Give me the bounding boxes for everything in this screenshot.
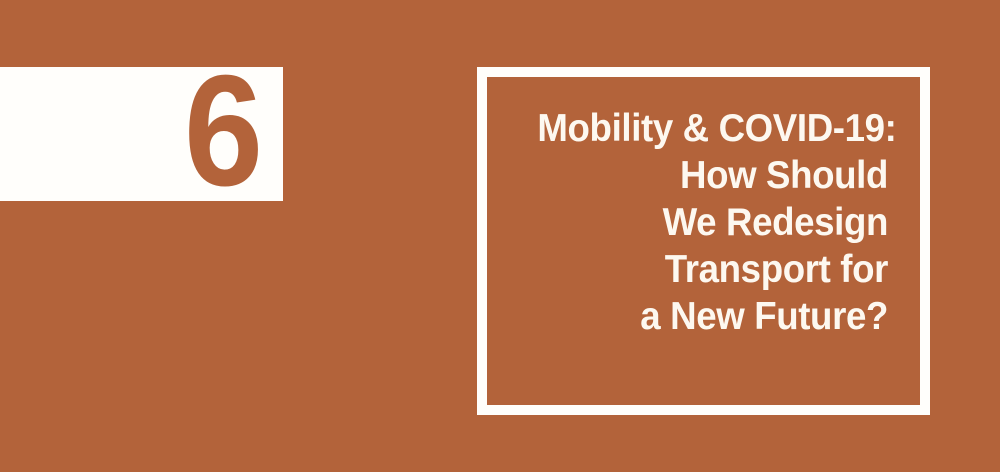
title-line-2: How Should — [537, 152, 888, 199]
title-line-3: We Redesign — [537, 199, 888, 246]
title-frame-inner: Mobility & COVID-19: How Should We Redes… — [487, 77, 920, 405]
title-line-4: Transport for — [537, 246, 888, 293]
section-title: Mobility & COVID-19: How Should We Redes… — [515, 105, 888, 340]
section-number-plate: 6 — [0, 67, 283, 201]
title-frame: Mobility & COVID-19: How Should We Redes… — [477, 67, 930, 415]
section-number: 6 — [184, 70, 283, 193]
title-line-1: Mobility & COVID-19: — [537, 105, 888, 152]
title-line-5: a New Future? — [537, 293, 888, 340]
slide-canvas: 6 Mobility & COVID-19: How Should We Red… — [0, 0, 1000, 472]
